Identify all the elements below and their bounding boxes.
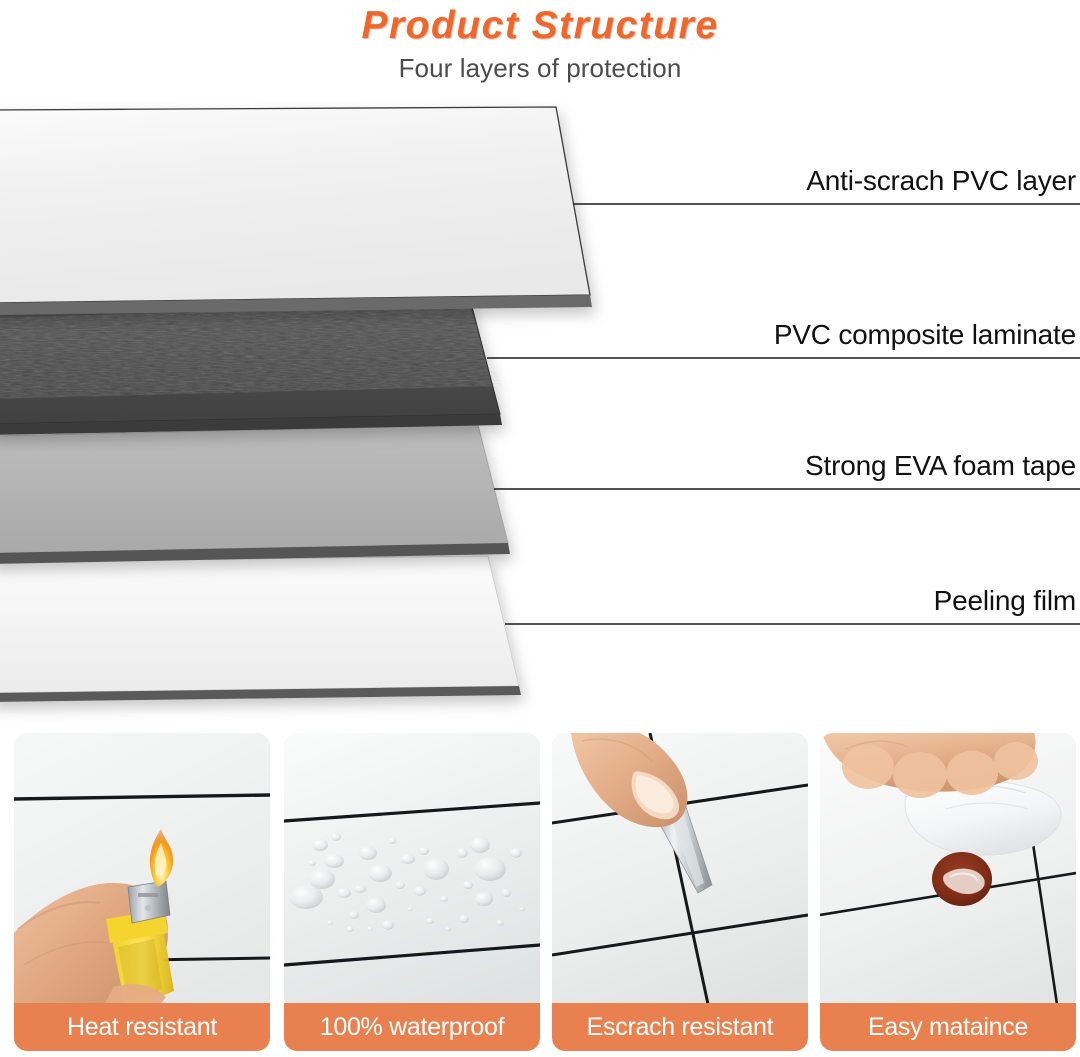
feature-panel-easy-maintenance[interactable]: Easy mataince bbox=[820, 733, 1076, 1051]
layer-label-eva-foam-tape: Strong EVA foam tape bbox=[805, 451, 1076, 481]
page-title: Product Structure bbox=[0, 0, 1080, 49]
feature-panel-heat-resistant[interactable]: Heat resistant bbox=[14, 733, 270, 1051]
feature-caption-easy-maintenance: Easy mataince bbox=[820, 1003, 1076, 1051]
page-subtitle: Four layers of protection bbox=[0, 51, 1080, 85]
feature-caption-heat-resistant: Heat resistant bbox=[14, 1003, 270, 1051]
feature-panel-row: Heat resistant bbox=[0, 733, 1080, 1057]
layer-label-pvc-composite-laminate: PVC composite laminate bbox=[774, 320, 1076, 350]
layer-diagram: Anti-scrach PVC layer PVC composite lami… bbox=[0, 96, 1080, 726]
layer-anti-scratch-pvc bbox=[0, 107, 592, 315]
feature-caption-waterproof: 100% waterproof bbox=[284, 1003, 540, 1051]
feature-panel-waterproof[interactable]: 100% waterproof bbox=[284, 733, 540, 1051]
layer-label-peeling-film: Peeling film bbox=[934, 586, 1076, 616]
layer-peeling-film bbox=[0, 556, 521, 702]
feature-caption-scratch-resistant: Escrach resistant bbox=[552, 1003, 808, 1051]
header: Product Structure Four layers of protect… bbox=[0, 0, 1080, 96]
feature-panel-scratch-resistant[interactable]: Escrach resistant bbox=[552, 733, 808, 1051]
product-structure-infographic: Product Structure Four layers of protect… bbox=[0, 0, 1080, 1057]
layer-label-anti-scratch-pvc: Anti-scrach PVC layer bbox=[806, 166, 1076, 196]
layer-pvc-composite-laminate bbox=[0, 296, 520, 435]
layer-eva-foam-tape bbox=[0, 425, 510, 564]
